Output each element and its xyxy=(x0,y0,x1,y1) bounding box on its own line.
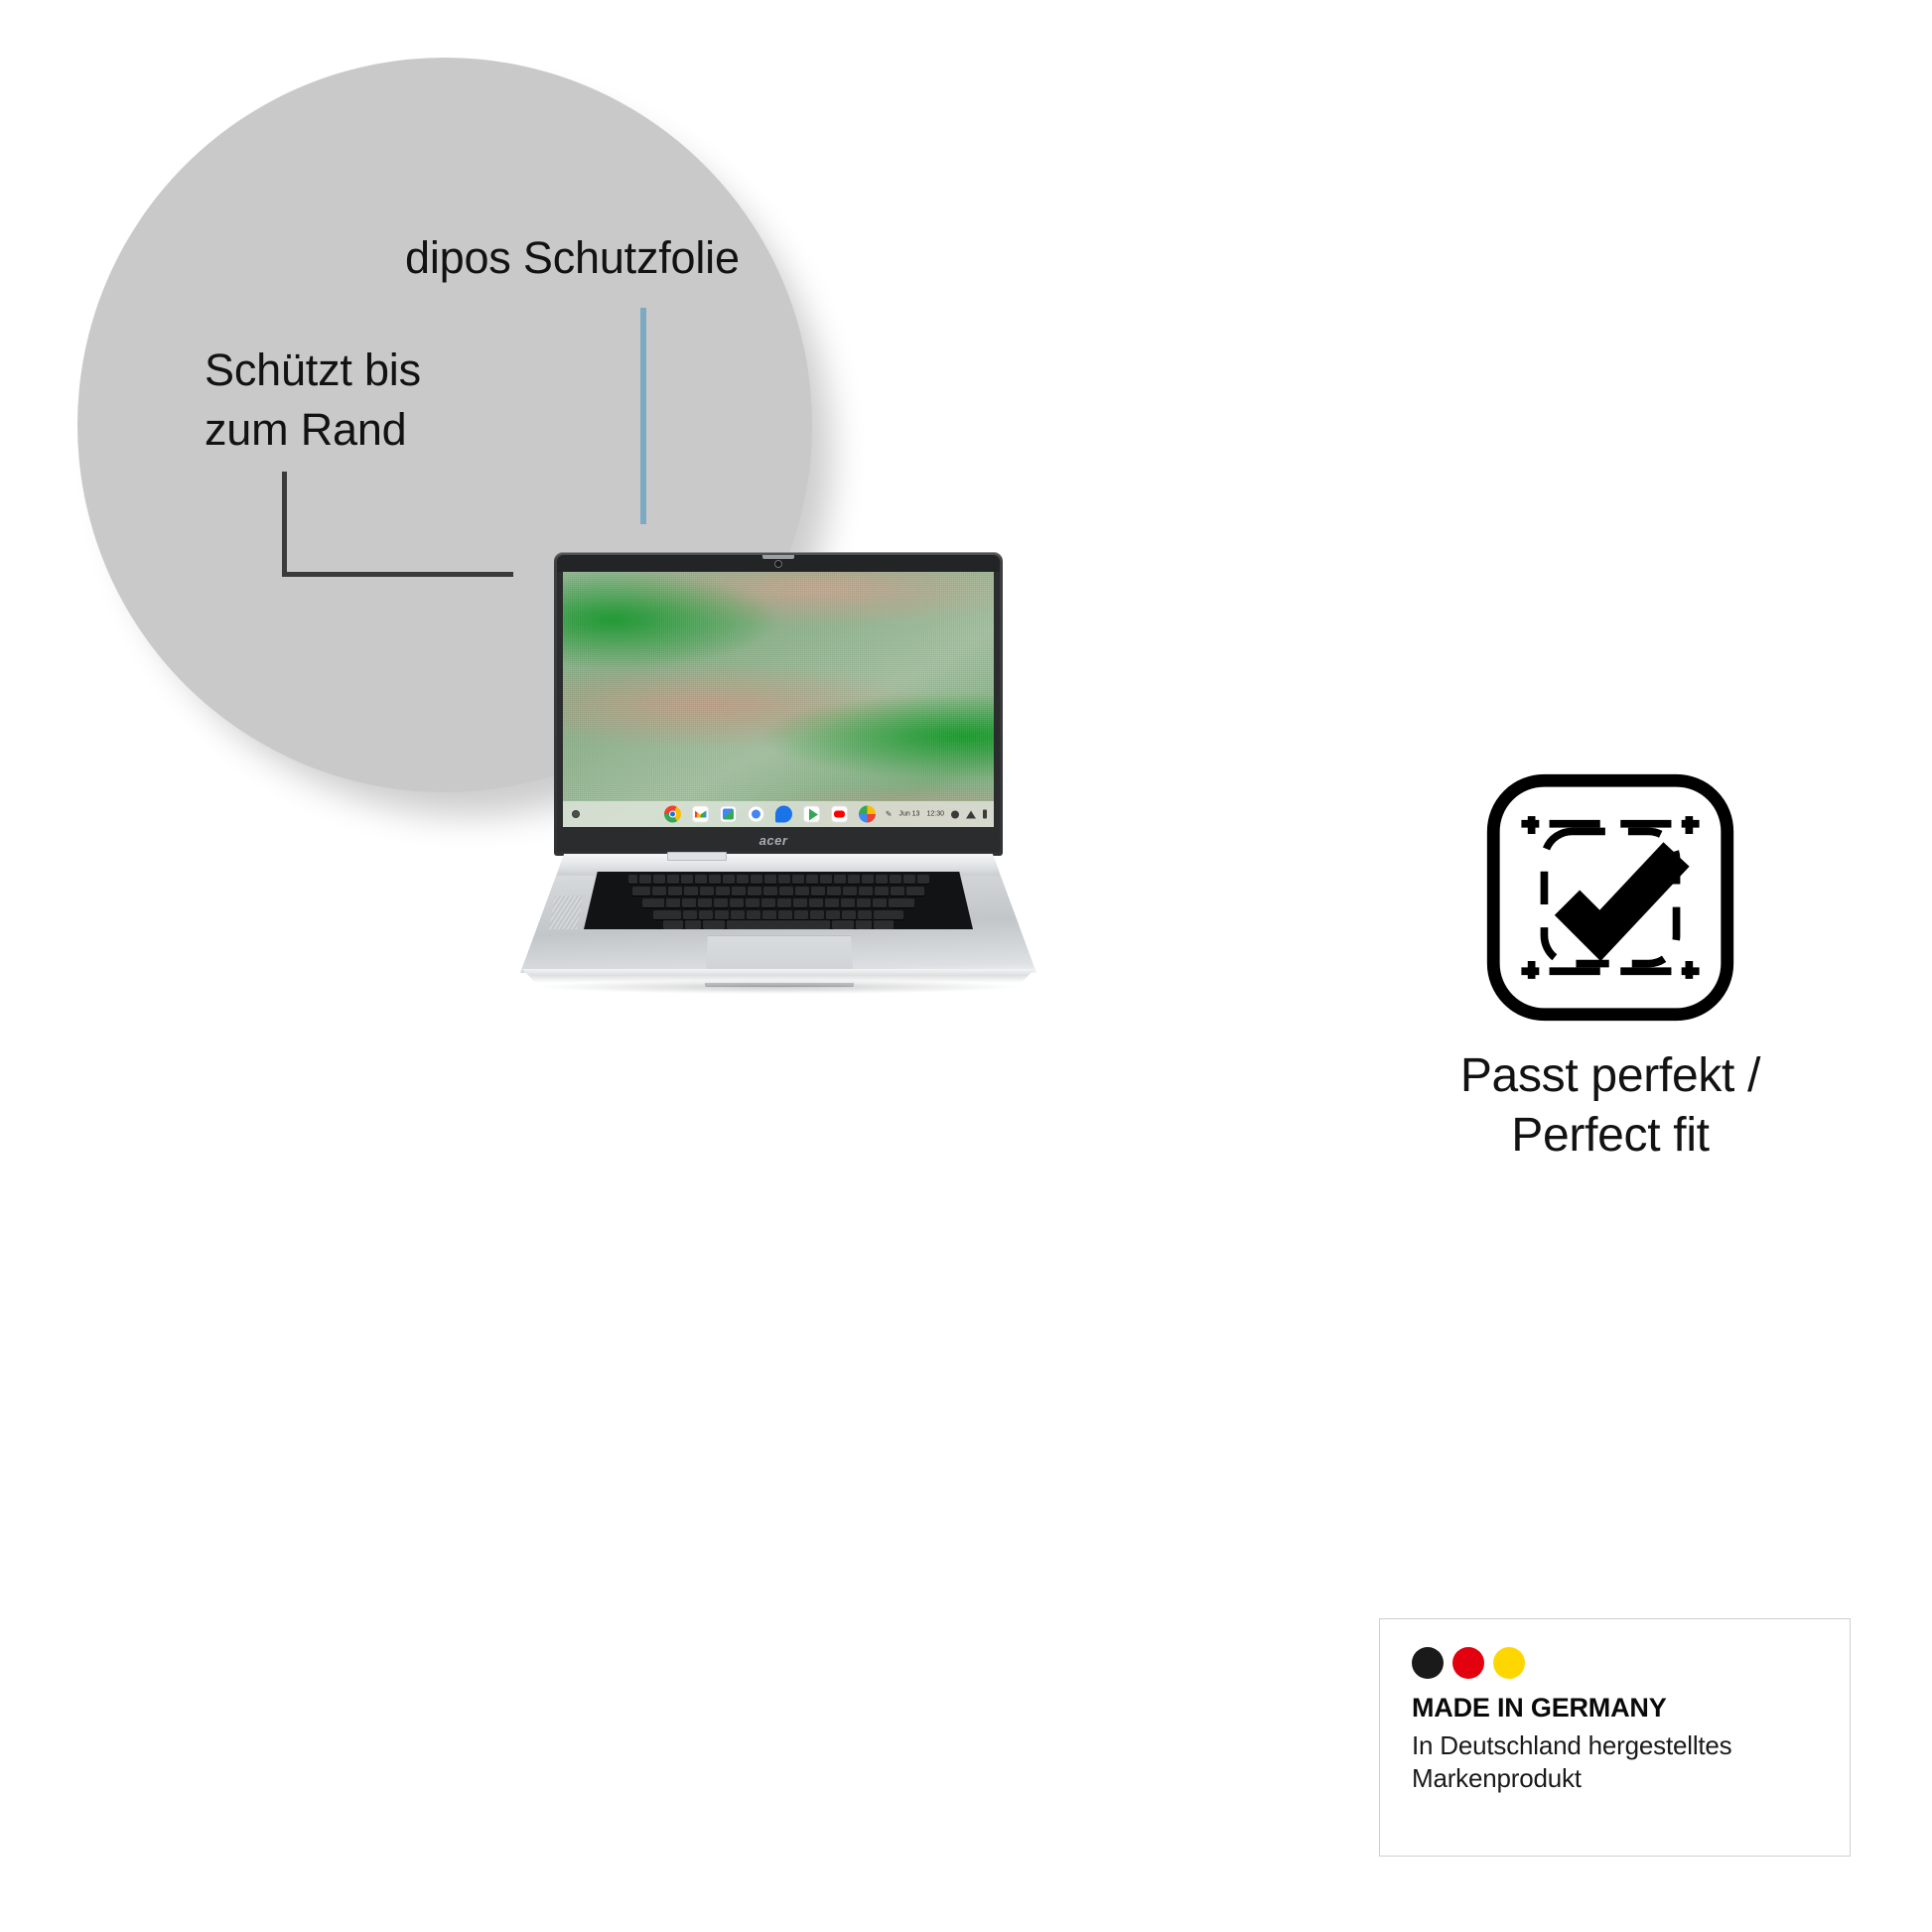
callout-subtitle: Schützt bis zum Rand xyxy=(205,341,421,460)
made-in-germany-subtitle: In Deutschland hergestelltes Markenprodu… xyxy=(1412,1729,1850,1795)
flag-dot-black xyxy=(1412,1647,1444,1679)
made-in-germany-title: MADE IN GERMANY xyxy=(1412,1693,1850,1724)
edge-bracket-vertical-line xyxy=(282,472,287,577)
perfect-fit-badge: Passt perfekt / Perfect fit xyxy=(1402,770,1819,1167)
callout-title: dipos Schutzfolie xyxy=(405,232,740,284)
google-photos-icon[interactable] xyxy=(748,806,764,823)
made-in-germany-subtitle-line2: Markenprodukt xyxy=(1412,1762,1850,1795)
webcam-notch xyxy=(762,555,794,559)
webcam-strip xyxy=(557,555,1000,572)
wifi-icon[interactable] xyxy=(966,810,976,818)
poster-canvas: dipos Schutzfolie Schützt bis zum Rand xyxy=(0,0,1932,1932)
perfect-fit-check-icon xyxy=(1483,770,1737,1025)
laptop-ground-shadow xyxy=(540,980,1017,994)
webcam-icon xyxy=(774,560,782,568)
shelf-status-tray[interactable]: ✎ Jun 13 12:30 xyxy=(886,810,987,819)
laptop-base xyxy=(520,850,1036,993)
hinge-tab xyxy=(667,852,727,861)
german-flag-dots xyxy=(1412,1647,1850,1679)
shelf-time: 12:30 xyxy=(926,811,944,818)
shelf-date: Jun 13 xyxy=(898,811,919,818)
google-photos-pinwheel-icon[interactable] xyxy=(859,806,876,823)
acer-chromebook-product-image: ✎ Jun 13 12:30 acer xyxy=(520,552,1036,993)
made-in-germany-subtitle-line1: In Deutschland hergestelltes xyxy=(1412,1729,1850,1762)
gmail-icon[interactable] xyxy=(692,806,709,823)
perfect-fit-caption: Passt perfekt / Perfect fit xyxy=(1402,1046,1819,1167)
leader-line-blue xyxy=(640,308,646,524)
google-messages-icon[interactable] xyxy=(775,806,792,823)
google-docs-icon[interactable] xyxy=(720,806,737,823)
notification-icon[interactable] xyxy=(951,810,959,818)
chromeos-shelf[interactable]: ✎ Jun 13 12:30 xyxy=(563,801,994,827)
edge-bracket-horizontal-line xyxy=(282,572,513,577)
flag-dot-red xyxy=(1452,1647,1484,1679)
flag-dot-gold xyxy=(1493,1647,1525,1679)
acer-brand-logo: acer xyxy=(557,833,1000,848)
launcher-dot-icon[interactable] xyxy=(572,810,580,818)
speaker-grille xyxy=(549,896,583,929)
laptop-lid: ✎ Jun 13 12:30 acer xyxy=(554,552,1003,856)
perfect-fit-caption-line2: Perfect fit xyxy=(1402,1106,1819,1166)
callout-subtitle-line2: zum Rand xyxy=(205,400,421,460)
chrome-icon[interactable] xyxy=(664,806,681,823)
youtube-icon[interactable] xyxy=(831,806,848,823)
perfect-fit-caption-line1: Passt perfekt / xyxy=(1402,1046,1819,1106)
shelf-app-list xyxy=(664,806,876,823)
made-in-germany-badge: MADE IN GERMANY In Deutschland hergestel… xyxy=(1379,1618,1851,1857)
laptop-screen: ✎ Jun 13 12:30 xyxy=(563,572,994,827)
laptop-bezel: ✎ Jun 13 12:30 acer xyxy=(557,555,1000,852)
play-store-icon[interactable] xyxy=(803,806,820,823)
keyboard[interactable] xyxy=(584,872,973,929)
stylus-icon[interactable]: ✎ xyxy=(886,810,893,819)
callout-subtitle-line1: Schützt bis xyxy=(205,341,421,400)
battery-icon[interactable] xyxy=(983,810,987,819)
wallpaper-grain-overlay xyxy=(563,572,994,827)
